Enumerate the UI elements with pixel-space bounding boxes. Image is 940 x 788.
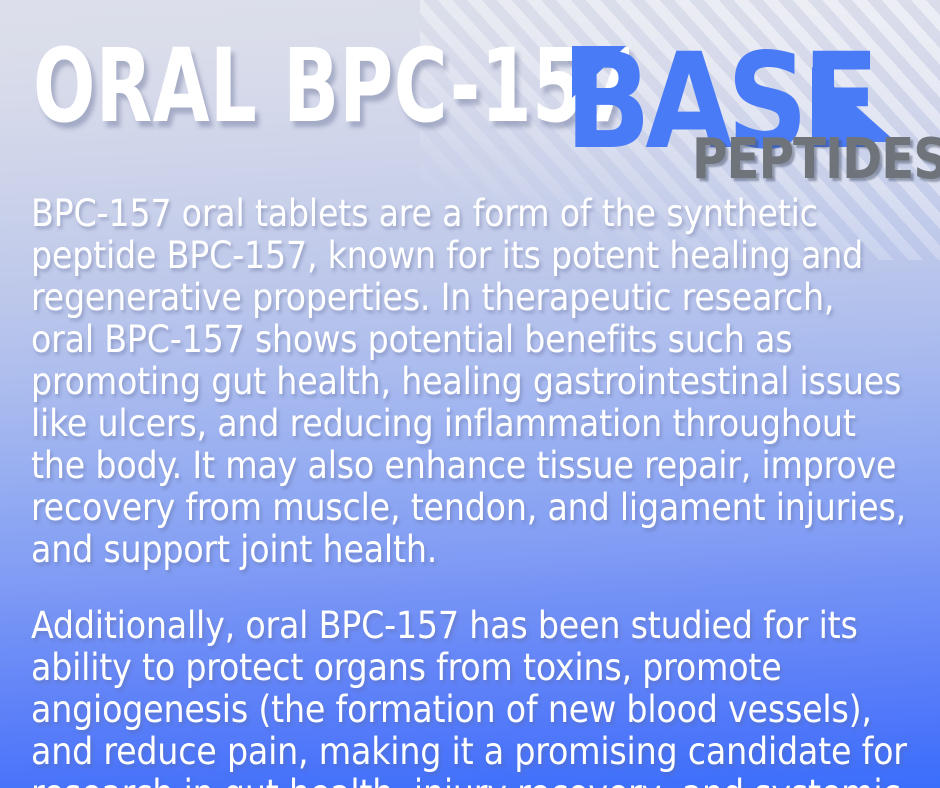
brand-logo: BASE PEPTIDES — [560, 22, 930, 182]
promo-poster: ORAL BPC-157 BASE PEPTIDES BPC-157 oral … — [0, 0, 940, 788]
paragraph-1: BPC-157 oral tablets are a form of the s… — [31, 193, 907, 571]
paragraph-2: Additionally, oral BPC-157 has been stud… — [31, 605, 907, 788]
logo-secondary-text: PEPTIDES — [692, 132, 940, 188]
body-copy: BPC-157 oral tablets are a form of the s… — [31, 193, 907, 788]
page-title: ORAL BPC-157 — [33, 36, 635, 138]
